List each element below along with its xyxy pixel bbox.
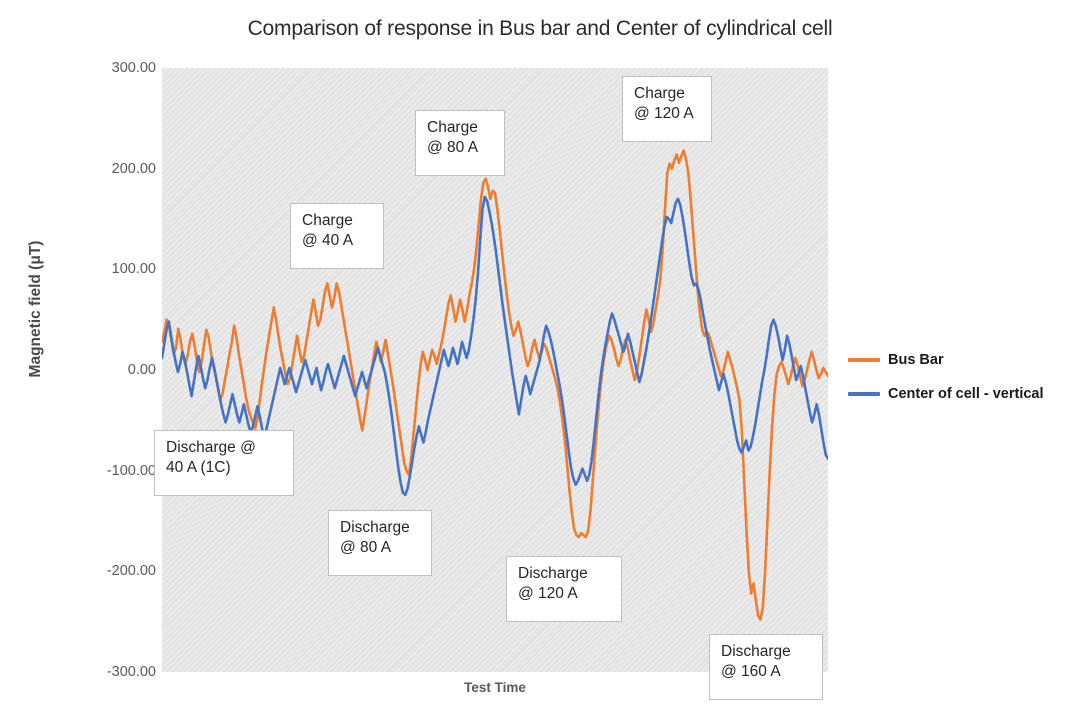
annotation-charge-40a[interactable]: Charge @ 40 A bbox=[290, 203, 384, 269]
y-tick-label: 200.00 bbox=[60, 161, 156, 177]
chart-title: Comparison of response in Bus bar and Ce… bbox=[0, 17, 1080, 41]
legend-color-swatch bbox=[848, 358, 880, 362]
series-line bbox=[162, 151, 828, 620]
y-tick-label: 100.00 bbox=[60, 261, 156, 277]
annotation-charge-80a[interactable]: Charge @ 80 A bbox=[415, 110, 505, 176]
annotation-discharge-80a[interactable]: Discharge @ 80 A bbox=[328, 510, 432, 576]
chart-container: Comparison of response in Bus bar and Ce… bbox=[0, 0, 1080, 723]
annotation-discharge-160a[interactable]: Discharge @ 160 A bbox=[709, 634, 823, 700]
y-tick-label: 300.00 bbox=[60, 60, 156, 76]
series-paths bbox=[162, 151, 828, 620]
y-tick-label: -200.00 bbox=[60, 563, 156, 579]
annotation-charge-120a[interactable]: Charge @ 120 A bbox=[622, 76, 712, 142]
y-tick-label: 0.00 bbox=[60, 362, 156, 378]
legend-item[interactable]: Bus Bar bbox=[848, 352, 1078, 368]
legend-label: Center of cell - vertical bbox=[888, 386, 1044, 402]
legend-color-swatch bbox=[848, 392, 880, 396]
annotation-discharge-120a[interactable]: Discharge @ 120 A bbox=[506, 556, 622, 622]
legend-item[interactable]: Center of cell - vertical bbox=[848, 386, 1078, 402]
y-tick-label: -100.00 bbox=[60, 463, 156, 479]
y-tick-label: -300.00 bbox=[60, 664, 156, 680]
y-axis-title: Magnetic field (μT) bbox=[27, 199, 45, 419]
y-axis-tick-labels: 300.00200.00100.000.00-100.00-200.00-300… bbox=[60, 68, 156, 672]
annotation-discharge-40a[interactable]: Discharge @ 40 A (1C) bbox=[154, 430, 294, 496]
chart-legend: Bus BarCenter of cell - vertical bbox=[848, 352, 1078, 420]
legend-label: Bus Bar bbox=[888, 352, 944, 368]
